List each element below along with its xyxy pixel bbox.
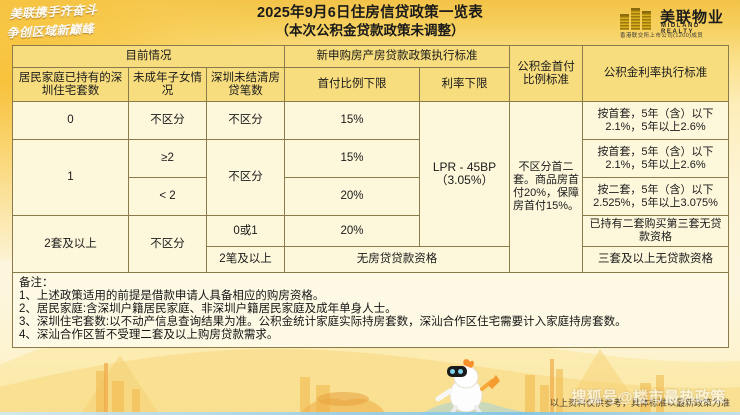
cell-fund-rate: 已持有二套购买第三套无贷款资格 <box>583 216 729 247</box>
header-rate-min: 利率下限 <box>420 68 510 102</box>
cell-unsettled-loans: 0或1 <box>207 216 285 247</box>
header-owned-units: 居民家庭已持有的深圳住宅套数 <box>13 68 129 102</box>
cell-fund-rate: 三套及以上无贷款资格 <box>583 247 729 273</box>
cell-no-loan-eligibility: 无房贷贷款资格 <box>285 247 510 273</box>
cell-fund-rate: 按首套，5年（含）以下2.1%，5年以上2.6% <box>583 102 729 140</box>
table-group-header-row: 目前情况 新申购房产房贷款政策执行标准 公积金首付比例标准 公积金利率执行标准 <box>13 46 729 68</box>
document-header: 美联携手齐奋斗 争创区域新巅峰 2025年9月6日住房信贷政策一览表 （本次公积… <box>0 0 740 42</box>
calligraphy-slogan: 美联携手齐奋斗 争创区域新巅峰 <box>5 0 139 47</box>
cell-owned-units: 0 <box>13 102 129 140</box>
cell-minor-children: 不区分 <box>129 102 207 140</box>
page-title-line-2: （本次公积金贷款政策未调整） <box>150 22 590 40</box>
notes-title: 备注： <box>19 277 722 290</box>
cell-rate-min: LPR - 45BP （3.05%） <box>420 102 510 247</box>
header-minor-children: 未成年子女情况 <box>129 68 207 102</box>
calligraphy-line-1: 美联携手齐奋斗 <box>9 3 97 22</box>
watermark-text: 搜狐号@楼市最热政策 <box>571 386 726 407</box>
cell-owned-units: 1 <box>13 140 129 216</box>
cell-minor-children: ≥2 <box>129 140 207 178</box>
cell-downpayment-min: 20% <box>285 216 420 247</box>
note-item-3: 3、深圳住宅套数:以不动产信息查询结果为准。公积金统计家庭实际持房套数，深汕合作… <box>19 316 722 329</box>
calligraphy-line-2: 争创区域新巅峰 <box>6 22 94 41</box>
housing-credit-policy-table: 目前情况 新申购房产房贷款政策执行标准 公积金首付比例标准 公积金利率执行标准 … <box>12 45 729 348</box>
cell-downpayment-min: 20% <box>285 178 420 216</box>
header-downpayment-min: 首付比例下限 <box>285 68 420 102</box>
header-new-loan-standard: 新申购房产房贷款政策执行标准 <box>285 46 510 68</box>
brand-logo: 美联物业 MIDLAND REALTY 香港联交所上市公司(1200)成员 <box>620 6 736 40</box>
note-item-1: 1、上述政策适用的前提是借款申请人具备相应的购房资格。 <box>19 290 722 303</box>
notes-block: 备注： 1、上述政策适用的前提是借款申请人具备相应的购房资格。 2、居民家庭:含… <box>13 273 729 348</box>
page-title: 2025年9月6日住房信贷政策一览表 （本次公积金贷款政策未调整） <box>150 4 590 40</box>
cell-downpayment-min: 15% <box>285 140 420 178</box>
cell-minor-children: 不区分 <box>129 216 207 273</box>
note-item-2: 2、居民家庭:含深圳户籍居民家庭、非深圳户籍居民家庭及成年单身人士。 <box>19 303 722 316</box>
header-fund-rate: 公积金利率执行标准 <box>583 46 729 102</box>
cell-minor-children: < 2 <box>129 178 207 216</box>
cell-fund-downpayment: 不区分首二套。商品房首付20%，保障房首付15%。 <box>510 102 583 273</box>
note-item-4: 4、深汕合作区暂不受理二套及以上购房贷款需求。 <box>19 329 722 342</box>
table-row: 0 不区分 不区分 15% LPR - 45BP （3.05%） 不区分首二套。… <box>13 102 729 140</box>
rate-min-percent: （3.05%） <box>422 174 507 187</box>
header-current-status: 目前情况 <box>13 46 285 68</box>
cell-fund-rate: 按二套，5年（含）以下2.525%，5年以上3.075% <box>583 178 729 216</box>
page-title-line-1: 2025年9月6日住房信贷政策一览表 <box>150 4 590 22</box>
policy-table-container: 目前情况 新申购房产房贷款政策执行标准 公积金首付比例标准 公积金利率执行标准 … <box>12 45 728 348</box>
cell-owned-units: 2套及以上 <box>13 216 129 273</box>
mascot-face-icon <box>447 366 467 377</box>
brand-listing-note: 香港联交所上市公司(1200)成员 <box>620 31 703 39</box>
cell-downpayment-min: 15% <box>285 102 420 140</box>
mascot-illustration <box>430 355 500 413</box>
cell-unsettled-loans: 不区分 <box>207 102 285 140</box>
header-fund-downpayment: 公积金首付比例标准 <box>510 46 583 102</box>
midland-bars-logo-icon <box>620 8 656 30</box>
table-row: 2套及以上 不区分 0或1 20% 已持有二套购买第三套无贷款资格 <box>13 216 729 247</box>
cell-fund-rate: 按首套，5年（含）以下2.1%，5年以上2.6% <box>583 140 729 178</box>
header-unsettled-loans: 深圳未结清房贷笔数 <box>207 68 285 102</box>
cell-unsettled-loans: 2笔及以上 <box>207 247 285 273</box>
table-row: 1 ≥2 不区分 15% 按首套，5年（含）以下2.1%，5年以上2.6% <box>13 140 729 178</box>
table-notes-row: 备注： 1、上述政策适用的前提是借款申请人具备相应的购房资格。 2、居民家庭:含… <box>13 273 729 348</box>
cell-unsettled-loans: 不区分 <box>207 140 285 216</box>
